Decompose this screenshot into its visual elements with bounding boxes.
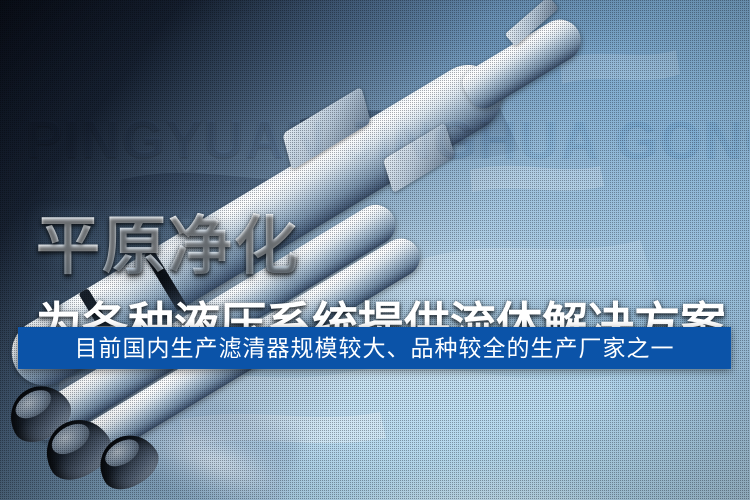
tagline-text: 目前国内生产滤清器规模较大、品种较全的生产厂家之一: [75, 337, 675, 360]
page-title: 平原净化: [36, 213, 300, 280]
hero-banner: PINGYUAN JINGHUA GONGSI LIULIAN 平原净化 为各种…: [0, 0, 750, 500]
pinyin-watermark: PINGYUAN JINGHUA GONGSI LIULIAN: [26, 112, 750, 166]
text-layer: PINGYUAN JINGHUA GONGSI LIULIAN 平原净化 为各种…: [0, 0, 750, 500]
tagline-bar: 目前国内生产滤清器规模较大、品种较全的生产厂家之一: [18, 327, 731, 369]
